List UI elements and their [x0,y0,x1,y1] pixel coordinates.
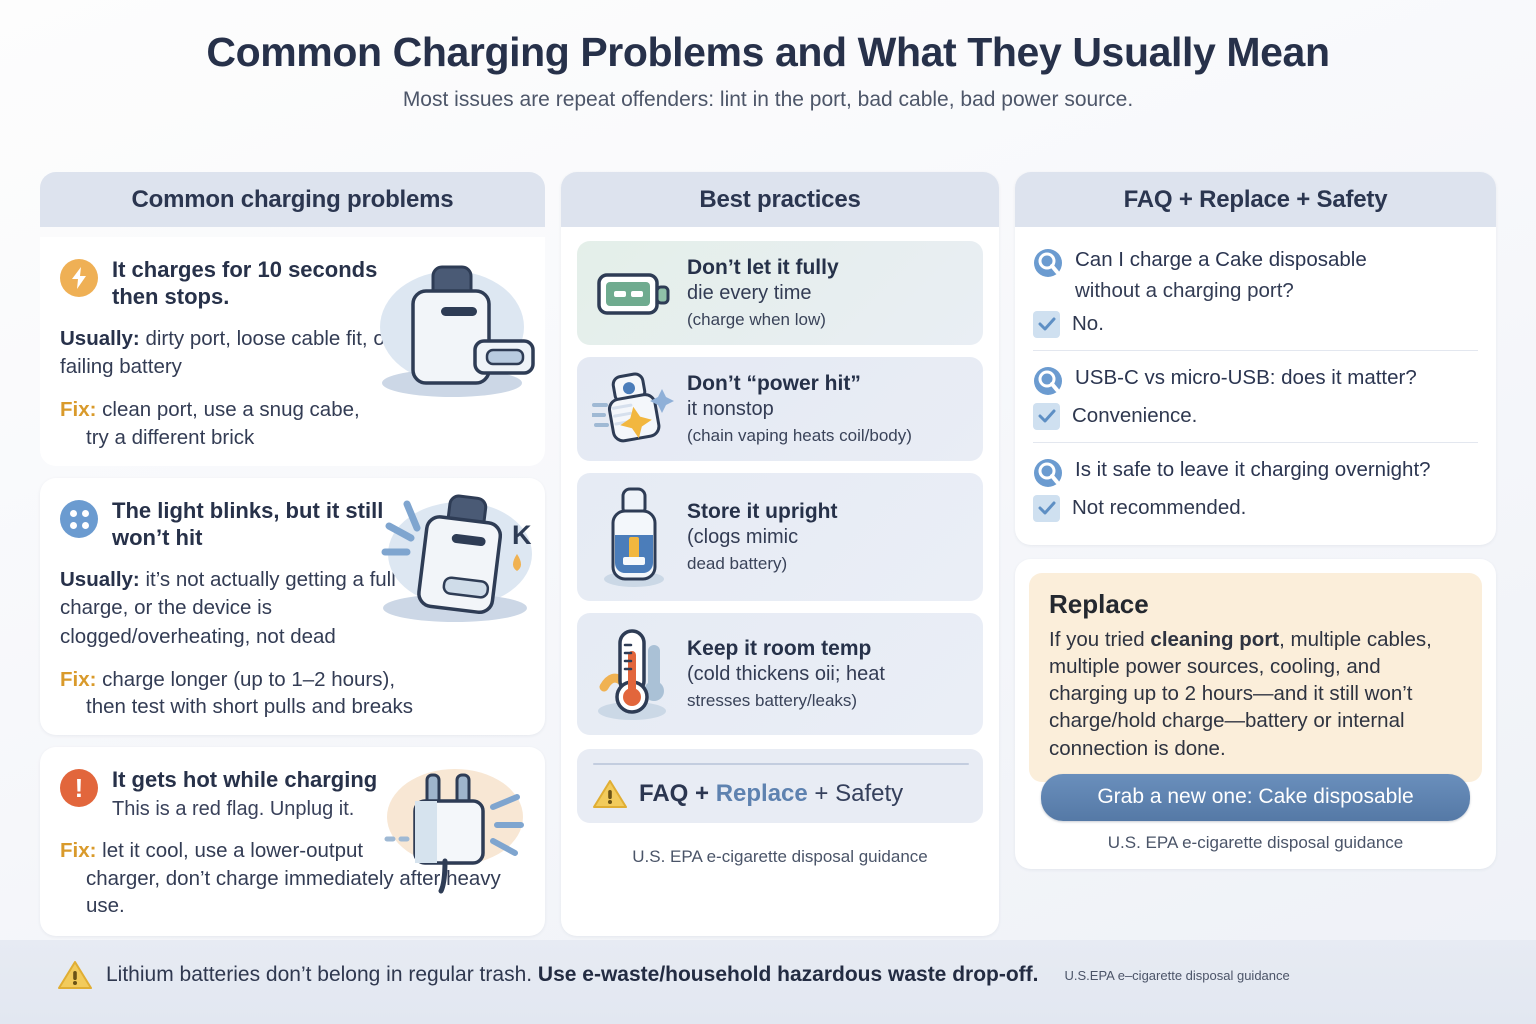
faq-question: Is it safe to leave it charging overnigh… [1075,457,1431,483]
fix-continuation: try a different brick [60,424,523,451]
faq-answer: No. [1072,312,1104,336]
thermometer-icon [591,625,677,723]
best-practice-title: Don’t “power hit” [687,372,969,397]
best-practice-subtitle: (clogs mimic [687,525,969,549]
middle-footer-card: FAQ + Replace + Safety [577,749,983,823]
question-search-icon [1033,248,1063,278]
fix-label: Fix: [60,839,96,862]
best-practice-note: (chain vaping heats coil/body) [687,426,969,446]
replace-text-bold: cleaning port [1150,628,1279,651]
faq-question: USB-C vs micro-USB: does it matter? [1075,365,1417,391]
footer-text-normal: Lithium batteries don’t belong in regula… [106,963,538,986]
middle-footer-label: FAQ + Replace + Safety [639,780,903,808]
problem-card-subtitle: This is a red flag. Unplug it. [112,797,377,822]
replace-panel: Replace If you tried cleaning port, mult… [1015,559,1496,869]
best-practice-title: Store it upright [687,500,969,525]
replace-title: Replace [1049,589,1462,620]
fix-continuation: then test with short pulls and breaks [60,693,523,720]
footer-part3: + Safety [808,780,903,807]
checkbox-icon [1033,495,1060,522]
warning-triangle-icon [58,960,92,990]
divider [1033,350,1478,351]
faq-question: Can I charge a Cake disposable [1075,247,1367,273]
divider [593,763,969,765]
best-practice-title: Keep it room temp [687,637,969,662]
best-practice-note: dead battery) [687,554,969,574]
page-title: Common Charging Problems and What They U… [40,30,1496,75]
footer-part2: Replace [716,780,808,807]
footer-part1: FAQ + [639,780,716,807]
left-column-heading: Common charging problems [40,172,545,227]
usually-label: Usually: [60,327,140,350]
footer-text: Lithium batteries don’t belong in regula… [106,963,1039,987]
alert-icon: ! [60,769,98,807]
vape-sparkle-icon [591,371,677,447]
faq-answer: Not recommended. [1072,496,1246,520]
footer-text-bold: Use e-waste/household hazardous waste dr… [538,963,1039,986]
column-common-charging-problems: Common charging problems It charges for … [40,172,545,936]
problem-card-light-blinks: K The light blinks, but it still won’t h… [40,478,545,735]
best-practices-list: Don’t let it fully die every time (charg… [561,227,999,936]
checkbox-icon [1033,311,1060,338]
battery-icon [591,265,677,321]
fix-text: let it cool, use a lower-output [96,839,363,862]
problem-card-title: It gets hot while charging [112,765,377,794]
problem-card-gets-hot: ! It gets hot while charging This is a r… [40,747,545,936]
best-practice-subtitle: it nonstop [687,397,969,421]
faq-item: Can I charge a Cake disposable without a… [1033,243,1478,347]
best-practice-item: Keep it room temp (cold thickens oii; he… [577,613,983,735]
replace-text: If you tried cleaning port, multiple cab… [1049,626,1462,762]
faq-question-continuation: without a charging port? [1033,278,1478,304]
best-practice-item: Don’t let it fully die every time (charg… [577,241,983,345]
upright-bottle-icon [591,485,677,589]
faq-panel: FAQ + Replace + Safety Can I charge a Ca… [1015,172,1496,545]
column-faq-replace-safety: FAQ + Replace + Safety Can I charge a Ca… [1015,172,1496,936]
replace-box: Replace If you tried cleaning port, mult… [1029,573,1482,782]
problem-card-fix: Fix: charge longer (up to 1–2 hours), th… [60,666,523,721]
problem-card-fix: Fix: clean port, use a snug cabe, try a … [60,396,523,451]
checkbox-icon [1033,403,1060,430]
best-practice-note: stresses battery/leaks) [687,691,969,711]
middle-column-source: U.S. EPA e-cigarette disposal guidance [577,835,983,879]
best-practice-item: Don’t “power hit” it nonstop (chain vapi… [577,357,983,461]
best-practice-subtitle: (cold thickens oii; heat [687,662,969,686]
best-practice-title: Don’t let it fully [687,256,969,281]
fix-label: Fix: [60,668,96,691]
problem-card-usually: Usually: it’s not actually getting a ful… [60,566,420,651]
right-column-heading: FAQ + Replace + Safety [1015,172,1496,227]
divider [1033,442,1478,443]
faq-list: Can I charge a Cake disposable without a… [1015,227,1496,545]
problem-card-title: The light blinks, but it still won’t hit [112,496,422,552]
grab-a-new-one-button[interactable]: Grab a new one: Cake disposable [1041,774,1470,821]
warning-triangle-icon [593,779,627,809]
usually-label: Usually: [60,568,140,591]
replace-text-pre: If you tried [1049,628,1150,651]
replace-source: U.S. EPA e-cigarette disposal guidance [1029,821,1482,859]
page-subtitle: Most issues are repeat offenders: lint i… [40,88,1496,112]
fix-text: charge longer (up to 1–2 hours), [96,668,395,691]
faq-item: USB-C vs micro-USB: does it matter? Conv… [1033,361,1478,439]
footer-source: U.S.EPA e–cigarette disposal guidance [1065,968,1290,983]
faq-answer: Convenience. [1072,404,1197,428]
fix-text: clean port, use a snug cabe, [96,398,359,421]
question-search-icon [1033,458,1063,488]
best-practice-subtitle: die every time [687,281,969,305]
middle-column-heading: Best practices [561,172,999,227]
bolt-icon [60,259,98,297]
question-search-icon [1033,366,1063,396]
columns-container: Common charging problems It charges for … [40,172,1496,936]
fix-continuation: charger, don’t charge immediately after … [60,865,523,920]
footer-bar: Lithium batteries don’t belong in regula… [0,940,1536,1024]
four-dots-icon [60,500,98,538]
page-header: Common Charging Problems and What They U… [0,0,1536,112]
faq-item: Is it safe to leave it charging overnigh… [1033,453,1478,531]
fix-label: Fix: [60,398,96,421]
problem-card-usually: Usually: dirty port, loose cable fit, or… [60,325,420,382]
problem-card-fix: Fix: let it cool, use a lower-output cha… [60,837,523,919]
best-practice-item: Store it upright (clogs mimic dead batte… [577,473,983,601]
best-practice-note: (charge when low) [687,310,969,330]
problem-card-title: It charges for 10 seconds then stops. [112,255,422,311]
problem-card-charges-then-stops: It charges for 10 seconds then stops. Us… [40,237,545,466]
column-best-practices: Best practices Don’t let it fully die ev… [561,172,999,936]
